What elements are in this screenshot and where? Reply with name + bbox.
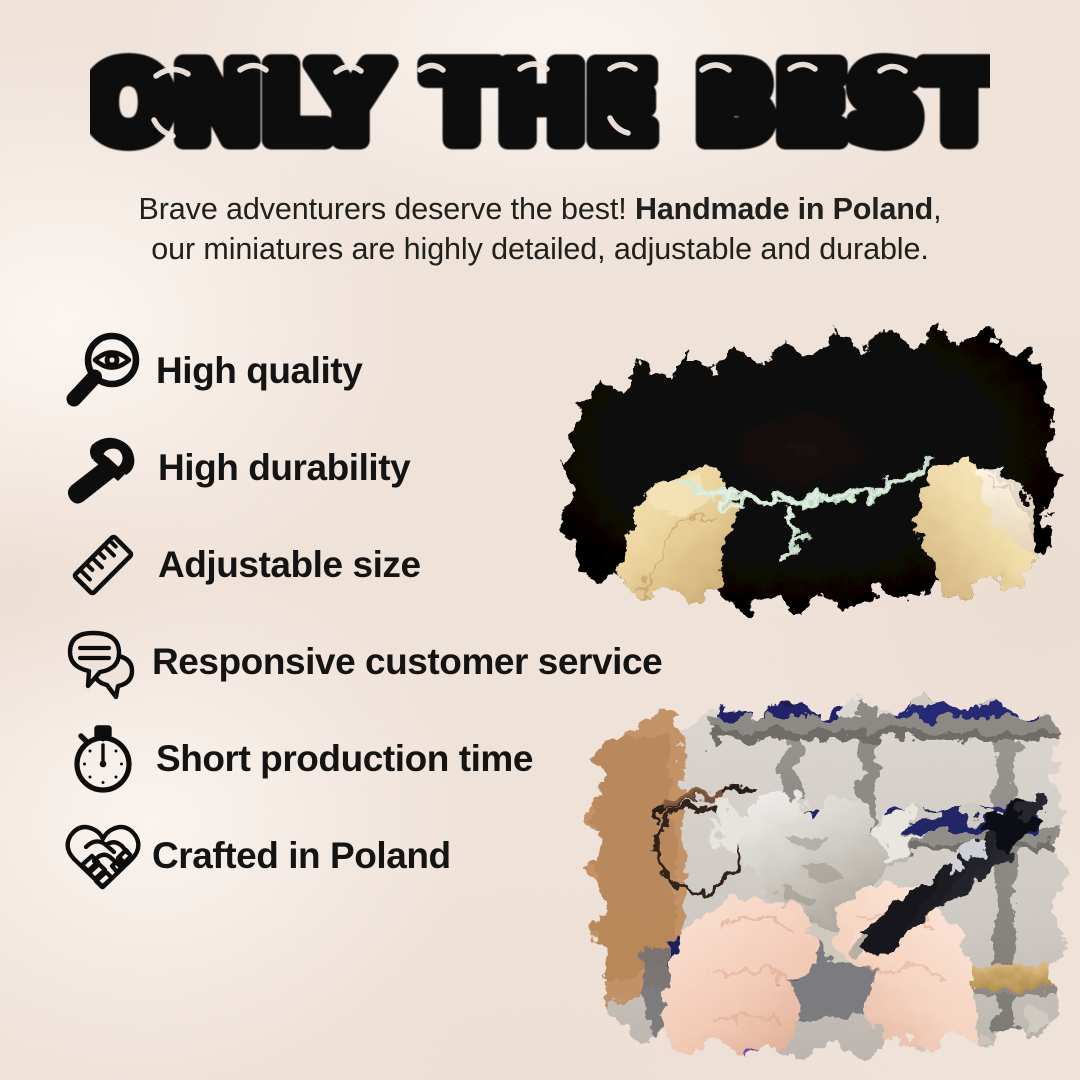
subtitle-line1-suffix: ,: [933, 192, 941, 226]
subtitle-line1-prefix: Brave adventurers deserve the best!: [139, 192, 636, 226]
paint-pot: [746, 1052, 768, 1066]
list-item-label: Short production time: [156, 738, 533, 780]
stopwatch-icon: [60, 720, 146, 798]
list-item-label: Adjustable size: [158, 544, 421, 586]
painting-workshop-photo: [560, 680, 1080, 1080]
subtitle-line2: our miniatures are highly detailed, adju…: [151, 232, 928, 266]
list-item-label: High durability: [158, 447, 410, 489]
speech-bubbles-icon: [60, 623, 146, 701]
list-item: Adjustable size: [60, 516, 800, 613]
subtitle-line1-bold: Handmade in Poland: [635, 192, 933, 226]
hammer-icon: [60, 429, 146, 507]
list-item-label: Responsive customer service: [152, 641, 662, 683]
list-item-label: High quality: [156, 350, 362, 392]
magnifier-eye-icon: [60, 332, 146, 410]
heart-handshake-icon: [60, 817, 146, 895]
list-item: High durability: [60, 419, 800, 516]
list-item-label: Crafted in Poland: [152, 835, 451, 877]
subtitle: Brave adventurers deserve the best! Hand…: [50, 190, 1030, 269]
list-item: High quality: [60, 322, 800, 419]
ruler-icon: [60, 526, 146, 604]
wooden-shelf: [958, 966, 1080, 988]
promo-poster: ONLY THE BEST Brave adventurers deserve …: [0, 0, 1080, 1080]
